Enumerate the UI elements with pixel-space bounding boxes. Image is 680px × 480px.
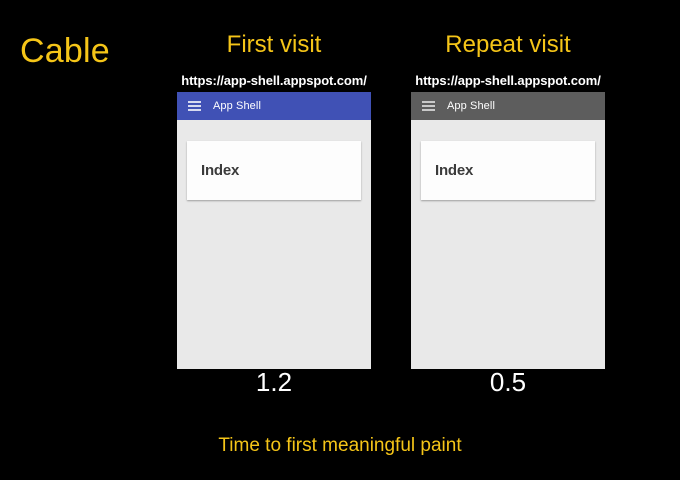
column-heading-first-visit: First visit — [154, 30, 394, 60]
page-content-first-visit: Index — [177, 120, 371, 369]
app-bar-repeat-visit: App Shell — [411, 92, 605, 120]
slide-caption: Time to first meaningful paint — [0, 434, 680, 458]
app-bar-title-first-visit: App Shell — [213, 100, 261, 113]
hamburger-menu-icon[interactable] — [422, 101, 435, 111]
hamburger-menu-icon[interactable] — [188, 101, 201, 111]
index-card-title-first-visit: Index — [201, 162, 239, 180]
slide-title: Cable — [20, 28, 110, 74]
presentation-slide: Cable First visit https://app-shell.apps… — [0, 0, 680, 480]
url-label-first-visit: https://app-shell.appspot.com/ — [154, 73, 394, 89]
column-heading-repeat-visit: Repeat visit — [388, 30, 628, 60]
browser-mockup-first-visit: App Shell Index — [177, 92, 371, 369]
metric-value-first-visit: 1.2 — [154, 366, 394, 398]
column-repeat-visit: Repeat visit https://app-shell.appspot.c… — [388, 0, 628, 480]
index-card-title-repeat-visit: Index — [435, 162, 473, 180]
index-card-first-visit[interactable]: Index — [187, 141, 361, 200]
url-label-repeat-visit: https://app-shell.appspot.com/ — [388, 73, 628, 89]
app-bar-first-visit: App Shell — [177, 92, 371, 120]
browser-mockup-repeat-visit: App Shell Index — [411, 92, 605, 369]
app-bar-title-repeat-visit: App Shell — [447, 100, 495, 113]
index-card-repeat-visit[interactable]: Index — [421, 141, 595, 200]
column-first-visit: First visit https://app-shell.appspot.co… — [154, 0, 394, 480]
page-content-repeat-visit: Index — [411, 120, 605, 369]
metric-value-repeat-visit: 0.5 — [388, 366, 628, 398]
